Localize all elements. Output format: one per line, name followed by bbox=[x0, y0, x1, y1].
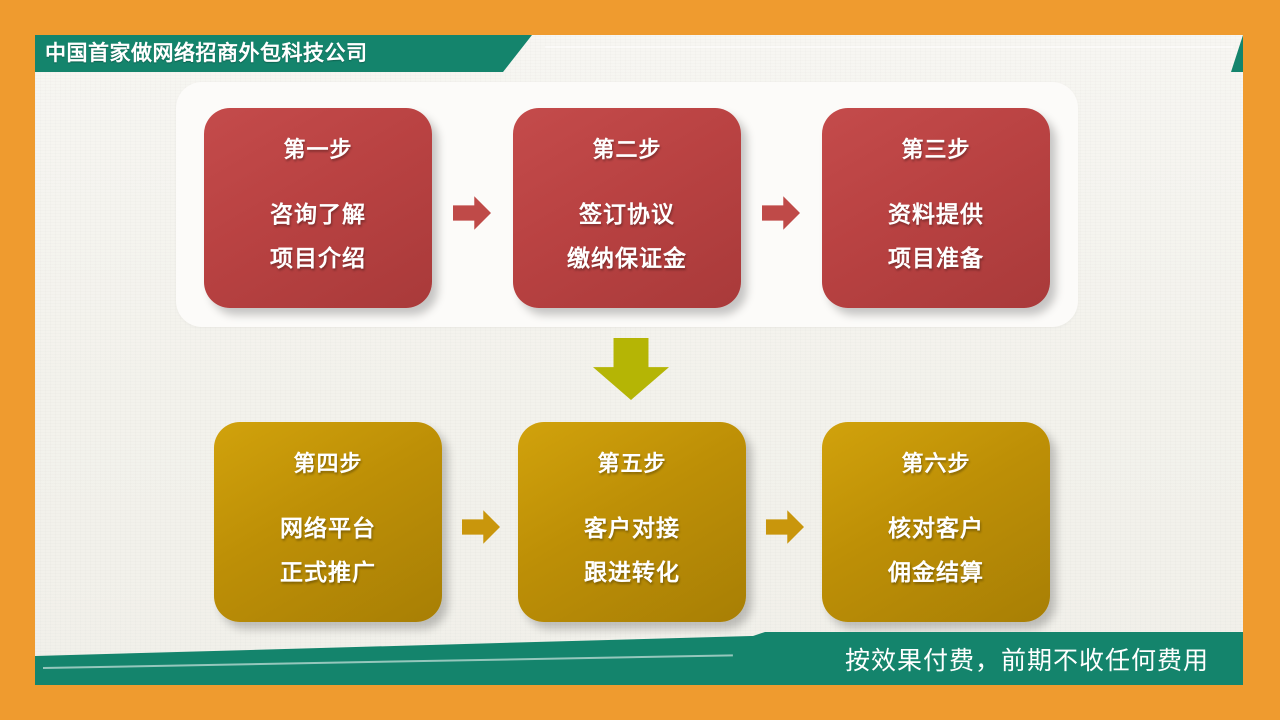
slide: 中国首家做网络招商外包科技公司 第一步 咨询了解 项目介绍 第二步 签订协议 缴… bbox=[0, 0, 1280, 720]
step-title: 第四步 bbox=[293, 446, 362, 478]
step-box-3[interactable]: 第三步 资料提供 项目准备 bbox=[822, 108, 1050, 308]
step-box-6[interactable]: 第六步 核对客户 佣金结算 bbox=[822, 422, 1050, 622]
step-body: 咨询了解 项目介绍 bbox=[270, 192, 366, 280]
step-title: 第五步 bbox=[597, 446, 666, 478]
step-body: 客户对接 跟进转化 bbox=[584, 506, 680, 594]
step-title: 第一步 bbox=[283, 132, 352, 164]
step-body: 签订协议 缴纳保证金 bbox=[567, 192, 687, 280]
step-line-2: 跟进转化 bbox=[584, 550, 680, 594]
step-line-1: 客户对接 bbox=[584, 506, 680, 550]
step-line-2: 缴纳保证金 bbox=[567, 236, 687, 280]
step-title: 第二步 bbox=[592, 132, 661, 164]
step-title: 第三步 bbox=[901, 132, 970, 164]
step-box-1[interactable]: 第一步 咨询了解 项目介绍 bbox=[204, 108, 432, 308]
step-body: 资料提供 项目准备 bbox=[888, 192, 984, 280]
step-body: 核对客户 佣金结算 bbox=[888, 506, 984, 594]
step-line-2: 项目准备 bbox=[888, 236, 984, 280]
step-box-4[interactable]: 第四步 网络平台 正式推广 bbox=[214, 422, 442, 622]
step-line-1: 咨询了解 bbox=[270, 192, 366, 236]
step-line-2: 项目介绍 bbox=[270, 236, 366, 280]
step-line-2: 正式推广 bbox=[280, 550, 376, 594]
step-box-2[interactable]: 第二步 签订协议 缴纳保证金 bbox=[513, 108, 741, 308]
header-divider-line bbox=[545, 46, 1233, 48]
footer-tagline: 按效果付费，前期不收任何费用 bbox=[845, 641, 1209, 677]
step-title: 第六步 bbox=[901, 446, 970, 478]
step-line-1: 核对客户 bbox=[888, 506, 984, 550]
page-title: 中国首家做网络招商外包科技公司 bbox=[45, 35, 368, 72]
step-line-1: 资料提供 bbox=[888, 192, 984, 236]
step-line-2: 佣金结算 bbox=[888, 550, 984, 594]
step-line-1: 签订协议 bbox=[567, 192, 687, 236]
step-body: 网络平台 正式推广 bbox=[280, 506, 376, 594]
step-line-1: 网络平台 bbox=[280, 506, 376, 550]
step-box-5[interactable]: 第五步 客户对接 跟进转化 bbox=[518, 422, 746, 622]
